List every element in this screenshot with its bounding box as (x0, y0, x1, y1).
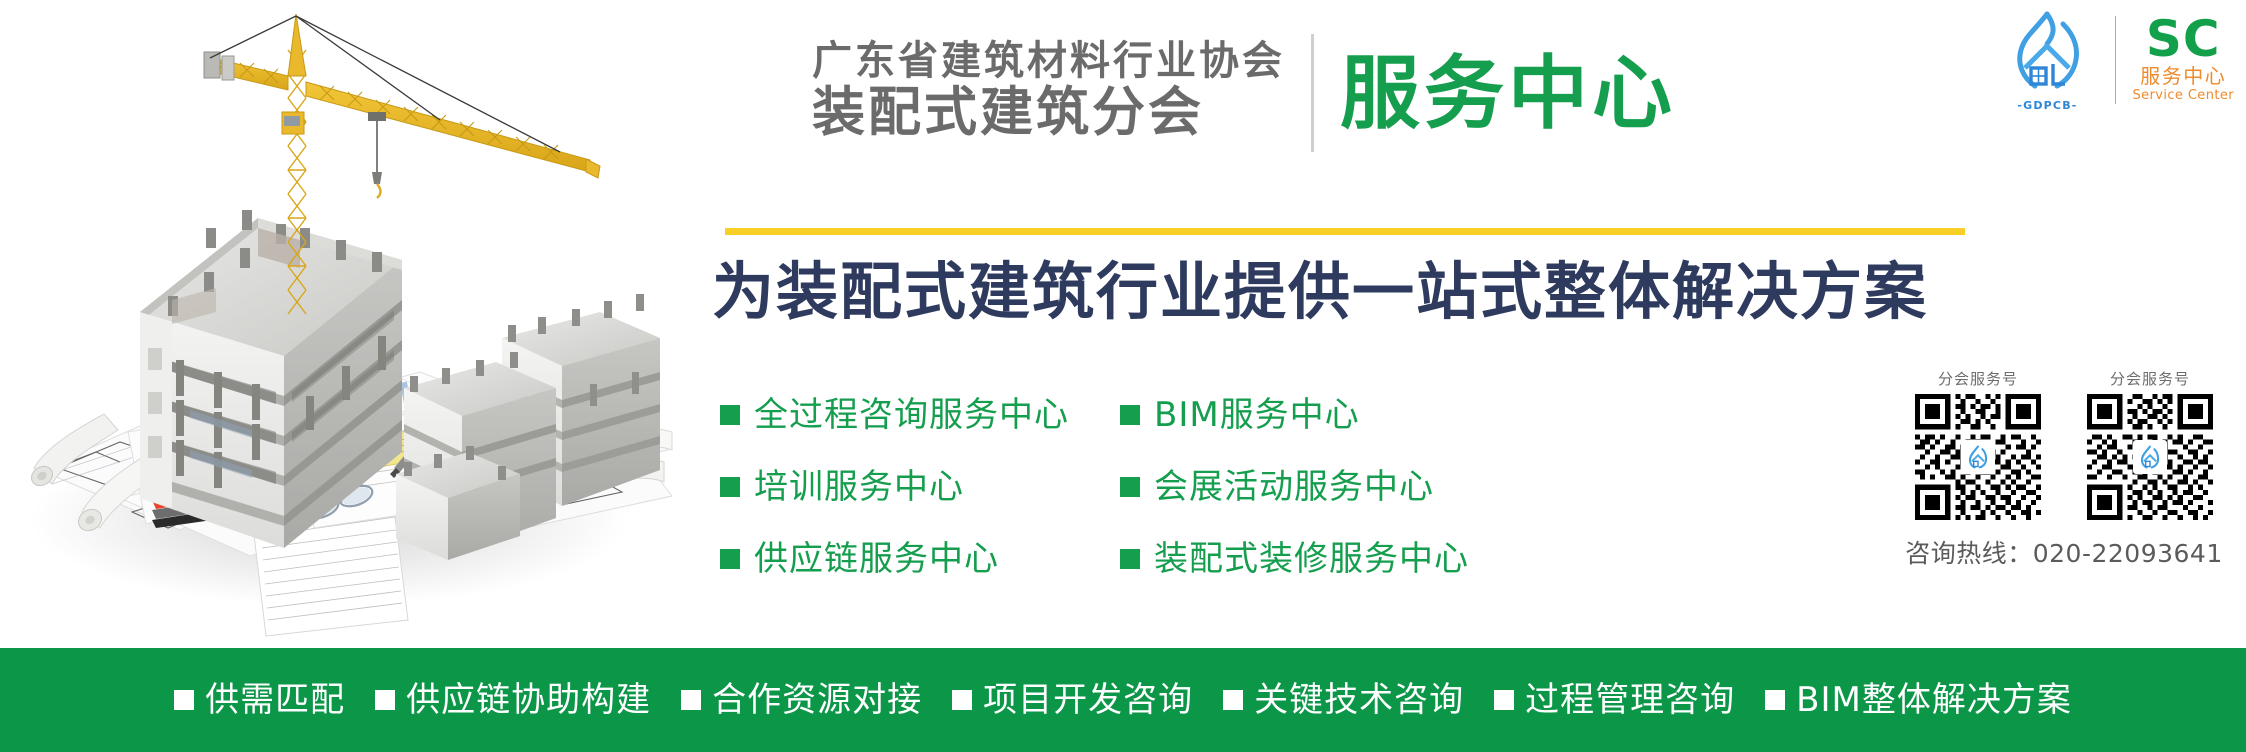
banner-content: -GDPCB- SC 服务中心 Service Center 广东省建筑材料行业… (690, 0, 2246, 648)
sc-abbrev: SC (2146, 16, 2221, 64)
hotline-text: 咨询热线：020-22093641 (1904, 534, 2224, 570)
qr-caption: 分会服务号 (2110, 372, 2190, 387)
org-name-line1: 广东省建筑材料行业协会 (812, 39, 1285, 84)
list-item-label: 供需匹配 (205, 683, 345, 717)
list-item-label: BIM服务中心 (1154, 398, 1360, 432)
list-item-label: 装配式装修服务中心 (1154, 542, 1469, 576)
list-item-label: 会展活动服务中心 (1154, 470, 1434, 504)
footer-capability-list: 供需匹配 供应链协助构建 合作资源对接 项目开发咨询 关键技术咨询 过程管理咨询 (174, 683, 2072, 717)
list-item[interactable]: 培训服务中心 (720, 470, 1120, 504)
footer-capability-bar: 供需匹配 供应链协助构建 合作资源对接 项目开发咨询 关键技术咨询 过程管理咨询 (0, 648, 2246, 752)
sc-english-label: Service Center (2132, 88, 2234, 104)
qr-code-service-account-1[interactable]: 分会服务号 (1904, 372, 2052, 520)
square-bullet-icon (720, 477, 740, 497)
square-bullet-icon (952, 690, 972, 710)
square-bullet-icon (1494, 690, 1514, 710)
gdpcb-mini-icon-1 (1965, 444, 1991, 470)
square-bullet-icon (1765, 690, 1785, 710)
list-item-label: 合作资源对接 (712, 683, 922, 717)
gdpcb-mini-icon-2 (2137, 444, 2163, 470)
sc-chinese-label: 服务中心 (2140, 65, 2226, 88)
qr-center-logo-1 (1961, 440, 1995, 474)
list-item-label: 关键技术咨询 (1254, 683, 1464, 717)
list-item-label: 供应链服务中心 (754, 542, 999, 576)
logo-mark-text: -GDPCB- (2017, 100, 2077, 112)
list-item-label: 供应链协助构建 (406, 683, 651, 717)
gdpcb-mark-graphic (1995, 6, 2099, 98)
page-tagline: 为装配式建筑行业提供一站式整体解决方案 (712, 258, 1928, 326)
list-item-label: 全过程咨询服务中心 (754, 398, 1069, 432)
gold-divider-rule (725, 228, 1965, 235)
square-bullet-icon (1120, 405, 1140, 425)
header-title-block: 广东省建筑材料行业协会 装配式建筑分会 服务中心 (690, 28, 1676, 152)
square-bullet-icon (720, 405, 740, 425)
list-item[interactable]: 供应链服务中心 (720, 542, 1120, 576)
title-vertical-divider (1311, 34, 1314, 152)
list-item-label: BIM整体解决方案 (1796, 683, 2072, 717)
qr-code-image-1[interactable] (1915, 394, 2041, 520)
list-item[interactable]: 会展活动服务中心 (1120, 470, 1469, 504)
list-item[interactable]: BIM服务中心 (1120, 398, 1469, 432)
list-item-label: 项目开发咨询 (983, 683, 1193, 717)
org-name-line2: 装配式建筑分会 (812, 84, 1204, 141)
logo-divider (2115, 16, 2116, 104)
qr-code-service-account-2[interactable]: 分会服务号 (2076, 372, 2224, 520)
square-bullet-icon (720, 549, 740, 569)
gdpcb-flame-house-icon: -GDPCB- (1995, 8, 2099, 112)
qr-caption: 分会服务号 (1938, 372, 2018, 387)
list-item[interactable]: BIM整体解决方案 (1765, 683, 2072, 717)
hero-construction-illustration (0, 0, 690, 648)
square-bullet-icon (1120, 549, 1140, 569)
service-center-banner: -GDPCB- SC 服务中心 Service Center 广东省建筑材料行业… (0, 0, 2246, 752)
list-item-label: 培训服务中心 (754, 470, 964, 504)
service-center-list: 全过程咨询服务中心 BIM服务中心 培训服务中心 会展活动服务中心 供应链服务中… (720, 398, 1469, 576)
list-item[interactable]: 供应链协助构建 (375, 683, 651, 717)
list-item[interactable]: 装配式装修服务中心 (1120, 542, 1469, 576)
list-item-label: 过程管理咨询 (1525, 683, 1735, 717)
qr-code-image-2[interactable] (2087, 394, 2213, 520)
sc-logo: SC 服务中心 Service Center (2132, 16, 2234, 103)
square-bullet-icon (174, 690, 194, 710)
square-bullet-icon (681, 690, 701, 710)
list-item[interactable]: 全过程咨询服务中心 (720, 398, 1120, 432)
list-item[interactable]: 项目开发咨询 (952, 683, 1193, 717)
square-bullet-icon (1223, 690, 1243, 710)
square-bullet-icon (1120, 477, 1140, 497)
list-item[interactable]: 关键技术咨询 (1223, 683, 1464, 717)
qr-row: 分会服务号 (1904, 372, 2224, 520)
service-center-title: 服务中心 (1340, 54, 1676, 134)
square-bullet-icon (375, 690, 395, 710)
list-item[interactable]: 合作资源对接 (681, 683, 922, 717)
organization-title: 广东省建筑材料行业协会 装配式建筑分会 (690, 39, 1285, 141)
list-item[interactable]: 过程管理咨询 (1494, 683, 1735, 717)
qr-center-logo-2 (2133, 440, 2167, 474)
brand-logo-lockup: -GDPCB- SC 服务中心 Service Center (1995, 8, 2234, 112)
qr-contact-block: 分会服务号 (1904, 372, 2224, 570)
hero-scene-graphic (0, 0, 690, 648)
list-item[interactable]: 供需匹配 (174, 683, 345, 717)
